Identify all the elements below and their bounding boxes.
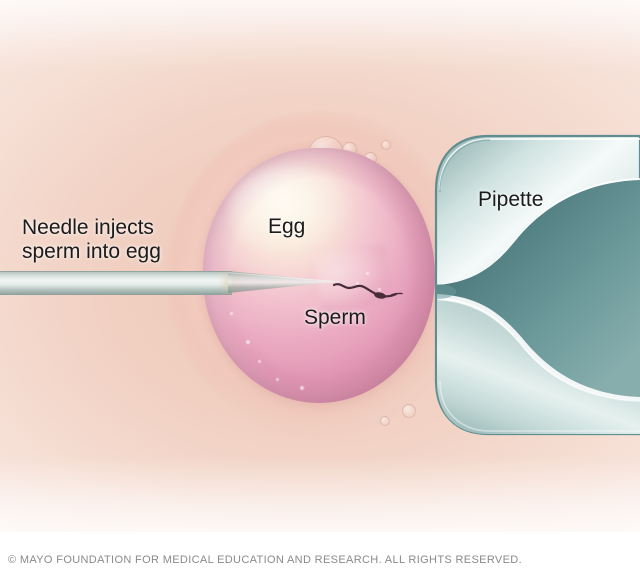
egg-speck xyxy=(258,360,261,363)
label-egg: Egg xyxy=(268,215,305,239)
injection-needle-shaft xyxy=(0,271,232,295)
egg-speck xyxy=(276,378,279,381)
egg-speck xyxy=(300,386,304,390)
vesicle-bubble-small-d xyxy=(402,404,416,418)
copyright-notice: © MAYO FOUNDATION FOR MEDICAL EDUCATION … xyxy=(8,554,522,566)
egg-speck xyxy=(246,340,250,344)
label-pipette: Pipette xyxy=(478,188,543,212)
egg-highlight xyxy=(228,166,356,258)
background-fade-top xyxy=(0,0,640,70)
vesicle-bubble-small-e xyxy=(380,416,390,426)
footer-bar: © MAYO FOUNDATION FOR MEDICAL EDUCATION … xyxy=(0,532,640,576)
label-needle-injects-sperm: Needle injects sperm into egg xyxy=(22,216,161,263)
egg-speck xyxy=(366,272,369,275)
label-sperm: Sperm xyxy=(304,306,366,330)
egg-speck xyxy=(230,312,233,315)
vesicle-bubble-small-c xyxy=(381,140,391,150)
sperm-cell xyxy=(330,276,414,310)
icsi-illustration: Needle injects sperm into egg Egg Sperm … xyxy=(0,0,640,576)
holding-pipette xyxy=(428,134,640,436)
